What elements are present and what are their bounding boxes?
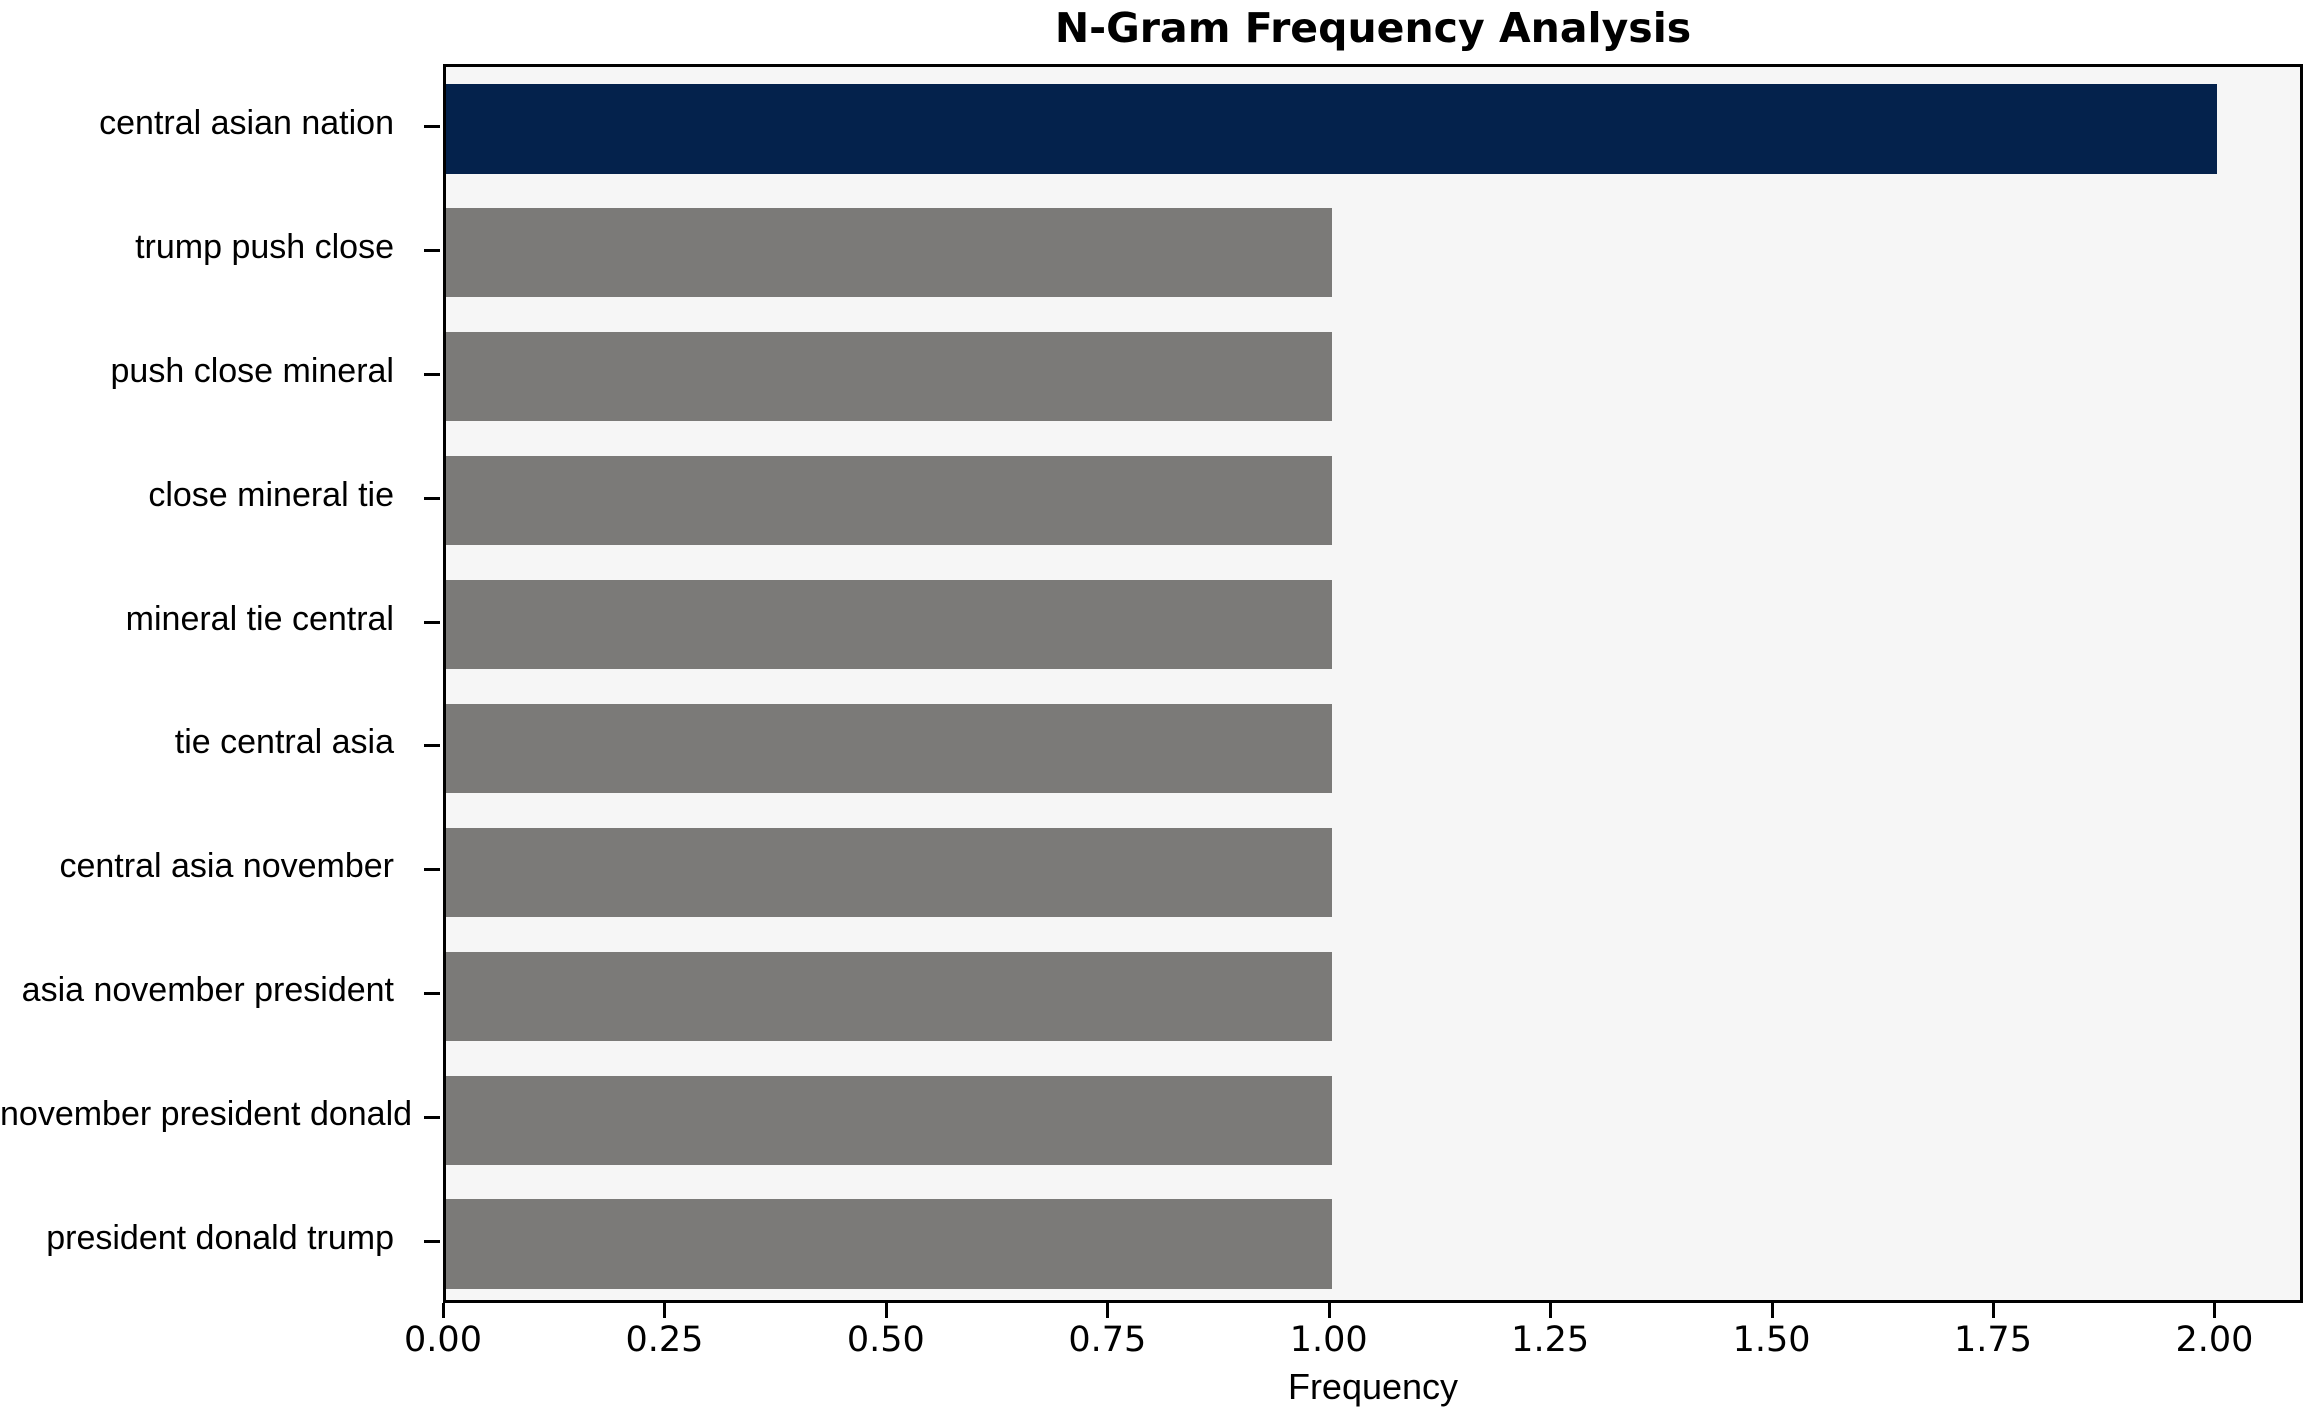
y-axis-tick-label: central asian nation <box>0 104 414 143</box>
bar[interactable] <box>446 828 1332 917</box>
bar[interactable] <box>446 84 2217 173</box>
y-axis-tick-label: november president donald <box>0 1095 414 1134</box>
y-axis-tick-label: push close mineral <box>0 352 414 391</box>
x-axis-tick-label: 2.00 <box>2175 1320 2253 1360</box>
chart-title: N-Gram Frequency Analysis <box>443 2 2303 54</box>
x-axis-tick-label: 0.75 <box>1068 1320 1146 1360</box>
x-axis-tick-mark <box>1106 1303 1109 1318</box>
y-axis-tick-mark <box>424 868 440 871</box>
y-axis-tick-label: mineral tie central <box>0 600 414 639</box>
y-axis-tick-mark <box>424 125 440 128</box>
x-axis-tick-label: 0.50 <box>847 1320 925 1360</box>
y-axis-tick-mark <box>424 249 440 252</box>
x-axis-tick-label: 1.75 <box>1954 1320 2032 1360</box>
bar[interactable] <box>446 580 1332 669</box>
bar[interactable] <box>446 456 1332 545</box>
x-axis-tick-mark <box>663 1303 666 1318</box>
x-axis-tick-label: 0.00 <box>404 1320 482 1360</box>
y-axis-tick-label: tie central asia <box>0 723 414 762</box>
x-axis-tick-mark <box>1549 1303 1552 1318</box>
bar[interactable] <box>446 1076 1332 1165</box>
y-axis-tick-label: trump push close <box>0 228 414 267</box>
x-axis-tick-label: 1.25 <box>1511 1320 1589 1360</box>
y-axis-tick-mark <box>424 497 440 500</box>
y-axis-tick-label: president donald trump <box>0 1219 414 1258</box>
x-axis-title: Frequency <box>443 1366 2303 1408</box>
y-axis-tick-label: close mineral tie <box>0 476 414 515</box>
bar[interactable] <box>446 704 1332 793</box>
y-axis-tick-mark <box>424 744 440 747</box>
bar[interactable] <box>446 952 1332 1041</box>
x-axis-tick-mark <box>442 1303 445 1318</box>
y-axis-tick-mark <box>424 621 440 624</box>
x-axis-tick-label: 1.50 <box>1733 1320 1811 1360</box>
y-axis-tick-mark <box>424 373 440 376</box>
x-axis-tick-label: 1.00 <box>1290 1320 1368 1360</box>
y-axis-tick-label: central asia november <box>0 847 414 886</box>
plot-area <box>443 64 2303 1303</box>
x-axis-tick-label: 0.25 <box>625 1320 703 1360</box>
y-axis-tick-mark <box>424 1116 440 1119</box>
figure-canvas: N-Gram Frequency Analysis central asian … <box>0 0 2323 1414</box>
y-axis-tick-mark <box>424 992 440 995</box>
bars-layer <box>446 67 2300 1300</box>
bar[interactable] <box>446 1199 1332 1288</box>
y-axis-tick-labels: central asian nationtrump push closepush… <box>0 64 414 1303</box>
bar[interactable] <box>446 208 1332 297</box>
x-axis-tick-mark <box>1992 1303 1995 1318</box>
y-axis-tick-mark <box>424 1240 440 1243</box>
x-axis-tick-mark <box>885 1303 888 1318</box>
x-axis-tick-mark <box>1771 1303 1774 1318</box>
y-axis-tick-label: asia november president <box>0 971 414 1010</box>
x-axis-tick-mark <box>1328 1303 1331 1318</box>
bar[interactable] <box>446 332 1332 421</box>
x-axis-tick-mark <box>2213 1303 2216 1318</box>
